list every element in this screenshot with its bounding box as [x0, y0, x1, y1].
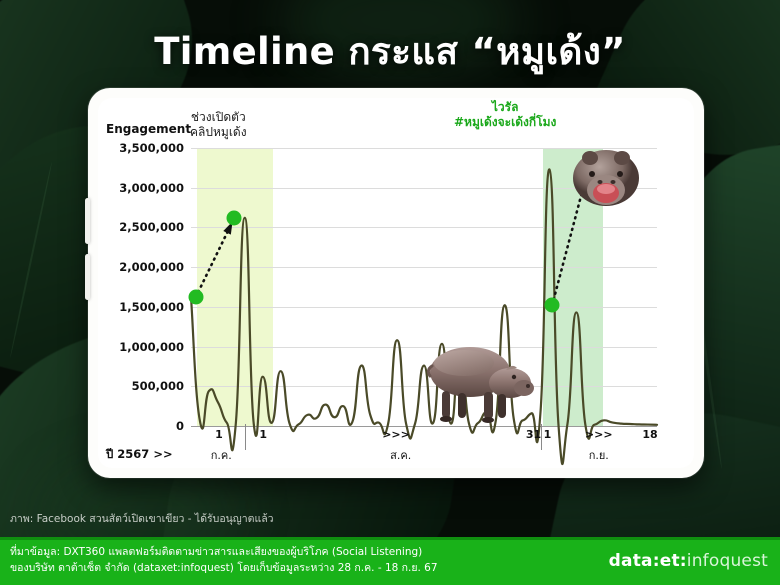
chart-marker-dot[interactable]: [188, 290, 203, 305]
y-axis-tick-label: 1,500,000: [119, 300, 184, 314]
logo-dataxet: data:et:: [609, 551, 687, 571]
annotation-connector: [196, 228, 230, 298]
annotation-viral-line1: ไวรัล: [454, 100, 556, 115]
y-axis-labels: 0500,0001,000,0001,500,0002,000,0002,500…: [98, 148, 188, 426]
tablet-device: Engagement 0500,0001,000,0001,500,0002,0…: [88, 88, 704, 478]
y-axis-tick-label: 2,500,000: [119, 220, 184, 234]
x-axis-tick-label: 1: [215, 428, 223, 441]
x-axis-month-label: ก.ค.: [211, 446, 232, 464]
page-title: Timeline กระแส “หมูเด้ง”: [0, 22, 780, 81]
x-axis-tick-label: 1: [544, 428, 552, 441]
y-axis-tick-label: 2,000,000: [119, 260, 184, 274]
annotation-launch-clip-line1: ช่วงเปิดตัว: [190, 110, 247, 125]
y-axis-tick-label: 3,000,000: [119, 181, 184, 195]
annotation-launch-clip: ช่วงเปิดตัว คลิปหมูเด้ง: [190, 110, 247, 140]
x-axis-tick-label: >>>: [585, 428, 613, 441]
y-axis-tick-label: 500,000: [132, 379, 184, 393]
chart-marker-dot[interactable]: [227, 210, 242, 225]
x-axis-month-label: ส.ค.: [390, 446, 411, 464]
annotation-viral-line2: #หมูเด้งจะเด้งกี่โมง: [454, 115, 556, 130]
x-axis-tick-label: 18: [642, 428, 657, 441]
y-axis-tick-label: 3,500,000: [119, 141, 184, 155]
x-axis-year-label: ปี 2567 >>: [106, 446, 173, 464]
footer-source-line1: ที่มาข้อมูล: DXT360 แพลตฟอร์มติดตามข่าวส…: [10, 544, 438, 560]
footer-divider: [0, 537, 780, 540]
annotation-viral: ไวรัล #หมูเด้งจะเด้งกี่โมง: [454, 100, 556, 130]
footer-source-line2: ของบริษัท ดาต้าเซ็ต จำกัด (dataxet:infoq…: [10, 560, 438, 576]
x-axis-tick-label: 31: [526, 428, 541, 441]
tablet-volume-up-button[interactable]: [85, 198, 90, 244]
x-axis: ปี 2567 >> 11>>>311>>>18ก.ค.ส.ค.ก.ย.: [98, 426, 694, 468]
x-axis-tick-label: 1: [259, 428, 267, 441]
y-axis-title: Engagement: [106, 122, 191, 136]
hippo-head-photo: [570, 148, 642, 212]
logo-infoquest: infoquest: [687, 551, 768, 571]
hippo-body-photo: [418, 336, 538, 428]
footer-source-text: ที่มาข้อมูล: DXT360 แพลตฟอร์มติดตามข่าวส…: [10, 544, 438, 577]
x-axis-tick-label: >>>: [382, 428, 410, 441]
x-axis-separator: [541, 424, 542, 450]
x-axis-separator: [245, 424, 246, 450]
footer-bar: ที่มาข้อมูล: DXT360 แพลตฟอร์มติดตามข่าวส…: [0, 537, 780, 585]
tablet-volume-down-button[interactable]: [85, 254, 90, 300]
image-credit: ภาพ: Facebook สวนสัตว์เปิดเขาเขียว - ได้…: [10, 510, 274, 527]
chart-marker-dot[interactable]: [545, 298, 560, 313]
dataxet-infoquest-logo: data:et:infoquest: [609, 551, 768, 571]
annotation-launch-clip-line2: คลิปหมูเด้ง: [190, 125, 247, 140]
x-axis-month-label: ก.ย.: [589, 446, 609, 464]
y-axis-tick-label: 1,000,000: [119, 340, 184, 354]
